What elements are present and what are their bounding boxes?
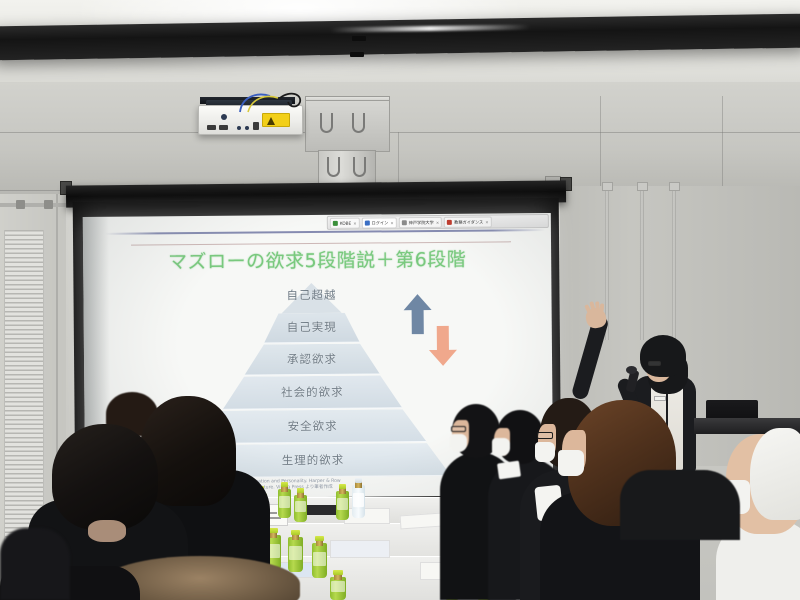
attendee-glasses [537, 432, 553, 439]
face-mask [492, 438, 510, 456]
bottle-cap [355, 478, 363, 483]
projector-port [207, 125, 216, 130]
green-tea-bottle [288, 530, 303, 572]
projector-port [253, 122, 259, 130]
pyramid-label-4: 承認欲求 [162, 350, 462, 369]
green-tea-bottle [312, 536, 327, 578]
bottle-label [313, 552, 326, 566]
projector-indicator [237, 126, 241, 130]
white-head-covering [750, 428, 800, 520]
microphone-head [626, 366, 637, 374]
ceiling-panels [0, 82, 800, 194]
beam-clip [352, 36, 366, 41]
conduit-cap [669, 182, 680, 191]
bottle-cap [339, 484, 347, 489]
face-mask [535, 442, 555, 462]
close-icon[interactable]: × [436, 216, 439, 227]
favicon-icon [402, 220, 407, 225]
bottle-cap [291, 530, 300, 535]
handout-paper [330, 540, 390, 558]
mount-hook [327, 157, 340, 177]
green-tea-bottle [330, 570, 346, 600]
wall-rail [0, 203, 70, 207]
bottle-label [353, 493, 364, 507]
pyramid-label-3: 社会的欲求 [162, 383, 462, 402]
attendee-glasses [451, 426, 466, 432]
beam-clip [350, 52, 364, 57]
green-tea-bottle [294, 488, 307, 522]
ceiling-seam [722, 96, 723, 192]
attendee-shoulders [0, 528, 70, 600]
browser-tab-2[interactable]: 神戸学院大学 × [399, 216, 443, 227]
browser-tab-label: ログイン [371, 217, 388, 228]
presenter-hair [640, 335, 686, 377]
down-arrow-icon [426, 324, 460, 368]
rail-bracket [16, 200, 25, 209]
bottle-label [295, 501, 306, 513]
browser-tab-strip[interactable]: KOBE × ログイン × 神戸学院大学 × 教務ガイダンス × [327, 214, 549, 230]
water-bottle [352, 478, 365, 518]
handout-paper [400, 513, 443, 530]
favicon-icon [333, 220, 338, 225]
slide-title: マズローの欲求5段階説＋第6段階 [83, 244, 551, 275]
close-icon[interactable]: × [485, 216, 488, 227]
mount-hook [320, 113, 333, 133]
browser-tab-0[interactable]: KOBE × [330, 217, 360, 228]
lecture-hall-scene: KOBE × ログイン × 神戸学院大学 × 教務ガイダンス × マズローの欲求… [0, 0, 800, 600]
conduit-cap [602, 182, 613, 191]
browser-tab-label: 教務ガイダンス [454, 216, 483, 227]
handout-paper [344, 508, 390, 524]
browser-tab-label: KOBE [340, 217, 351, 228]
bottle-cap [315, 536, 324, 541]
projector-port [219, 125, 228, 130]
browser-tab-label: 神戸学院大学 [409, 216, 434, 227]
favicon-icon [365, 220, 370, 225]
wall-conduit [640, 190, 644, 340]
bottle-cap [269, 528, 278, 533]
browser-toolbar-line [105, 229, 545, 235]
conduit-cap [637, 182, 648, 191]
finger [600, 303, 605, 311]
ceiling-seam [600, 96, 601, 192]
rail-bracket [44, 200, 53, 209]
close-icon[interactable]: × [353, 217, 356, 228]
face-mask [558, 450, 584, 476]
face-mask [450, 434, 467, 452]
attendee-neck [88, 520, 126, 542]
green-tea-bottle [336, 484, 349, 520]
bottle-cap [297, 488, 305, 493]
bottle-label [289, 546, 302, 560]
browser-tab-1[interactable]: ログイン × [361, 217, 396, 228]
browser-tab-3[interactable]: 教務ガイダンス × [444, 216, 492, 227]
presenter-glasses [648, 361, 661, 366]
bottle-label [279, 496, 290, 508]
close-icon[interactable]: × [390, 217, 393, 228]
presenter-name-badge [654, 396, 666, 401]
attendee-hair [52, 424, 158, 530]
ceiling-seam [0, 132, 800, 133]
wall-conduit [672, 190, 676, 340]
attendee-shoulders [620, 470, 740, 540]
projector-indicator [245, 126, 249, 130]
shirt-collar [497, 461, 521, 480]
favicon-icon [447, 219, 452, 224]
mount-hook [353, 157, 366, 177]
projector-knob [221, 114, 227, 120]
mount-hook [352, 113, 365, 133]
projector-cables [236, 88, 326, 116]
green-tea-bottle [278, 482, 291, 518]
bottle-label [337, 498, 348, 510]
bottle-cap [333, 570, 343, 575]
bottle-label [331, 581, 344, 591]
bottle-cap [281, 482, 289, 487]
